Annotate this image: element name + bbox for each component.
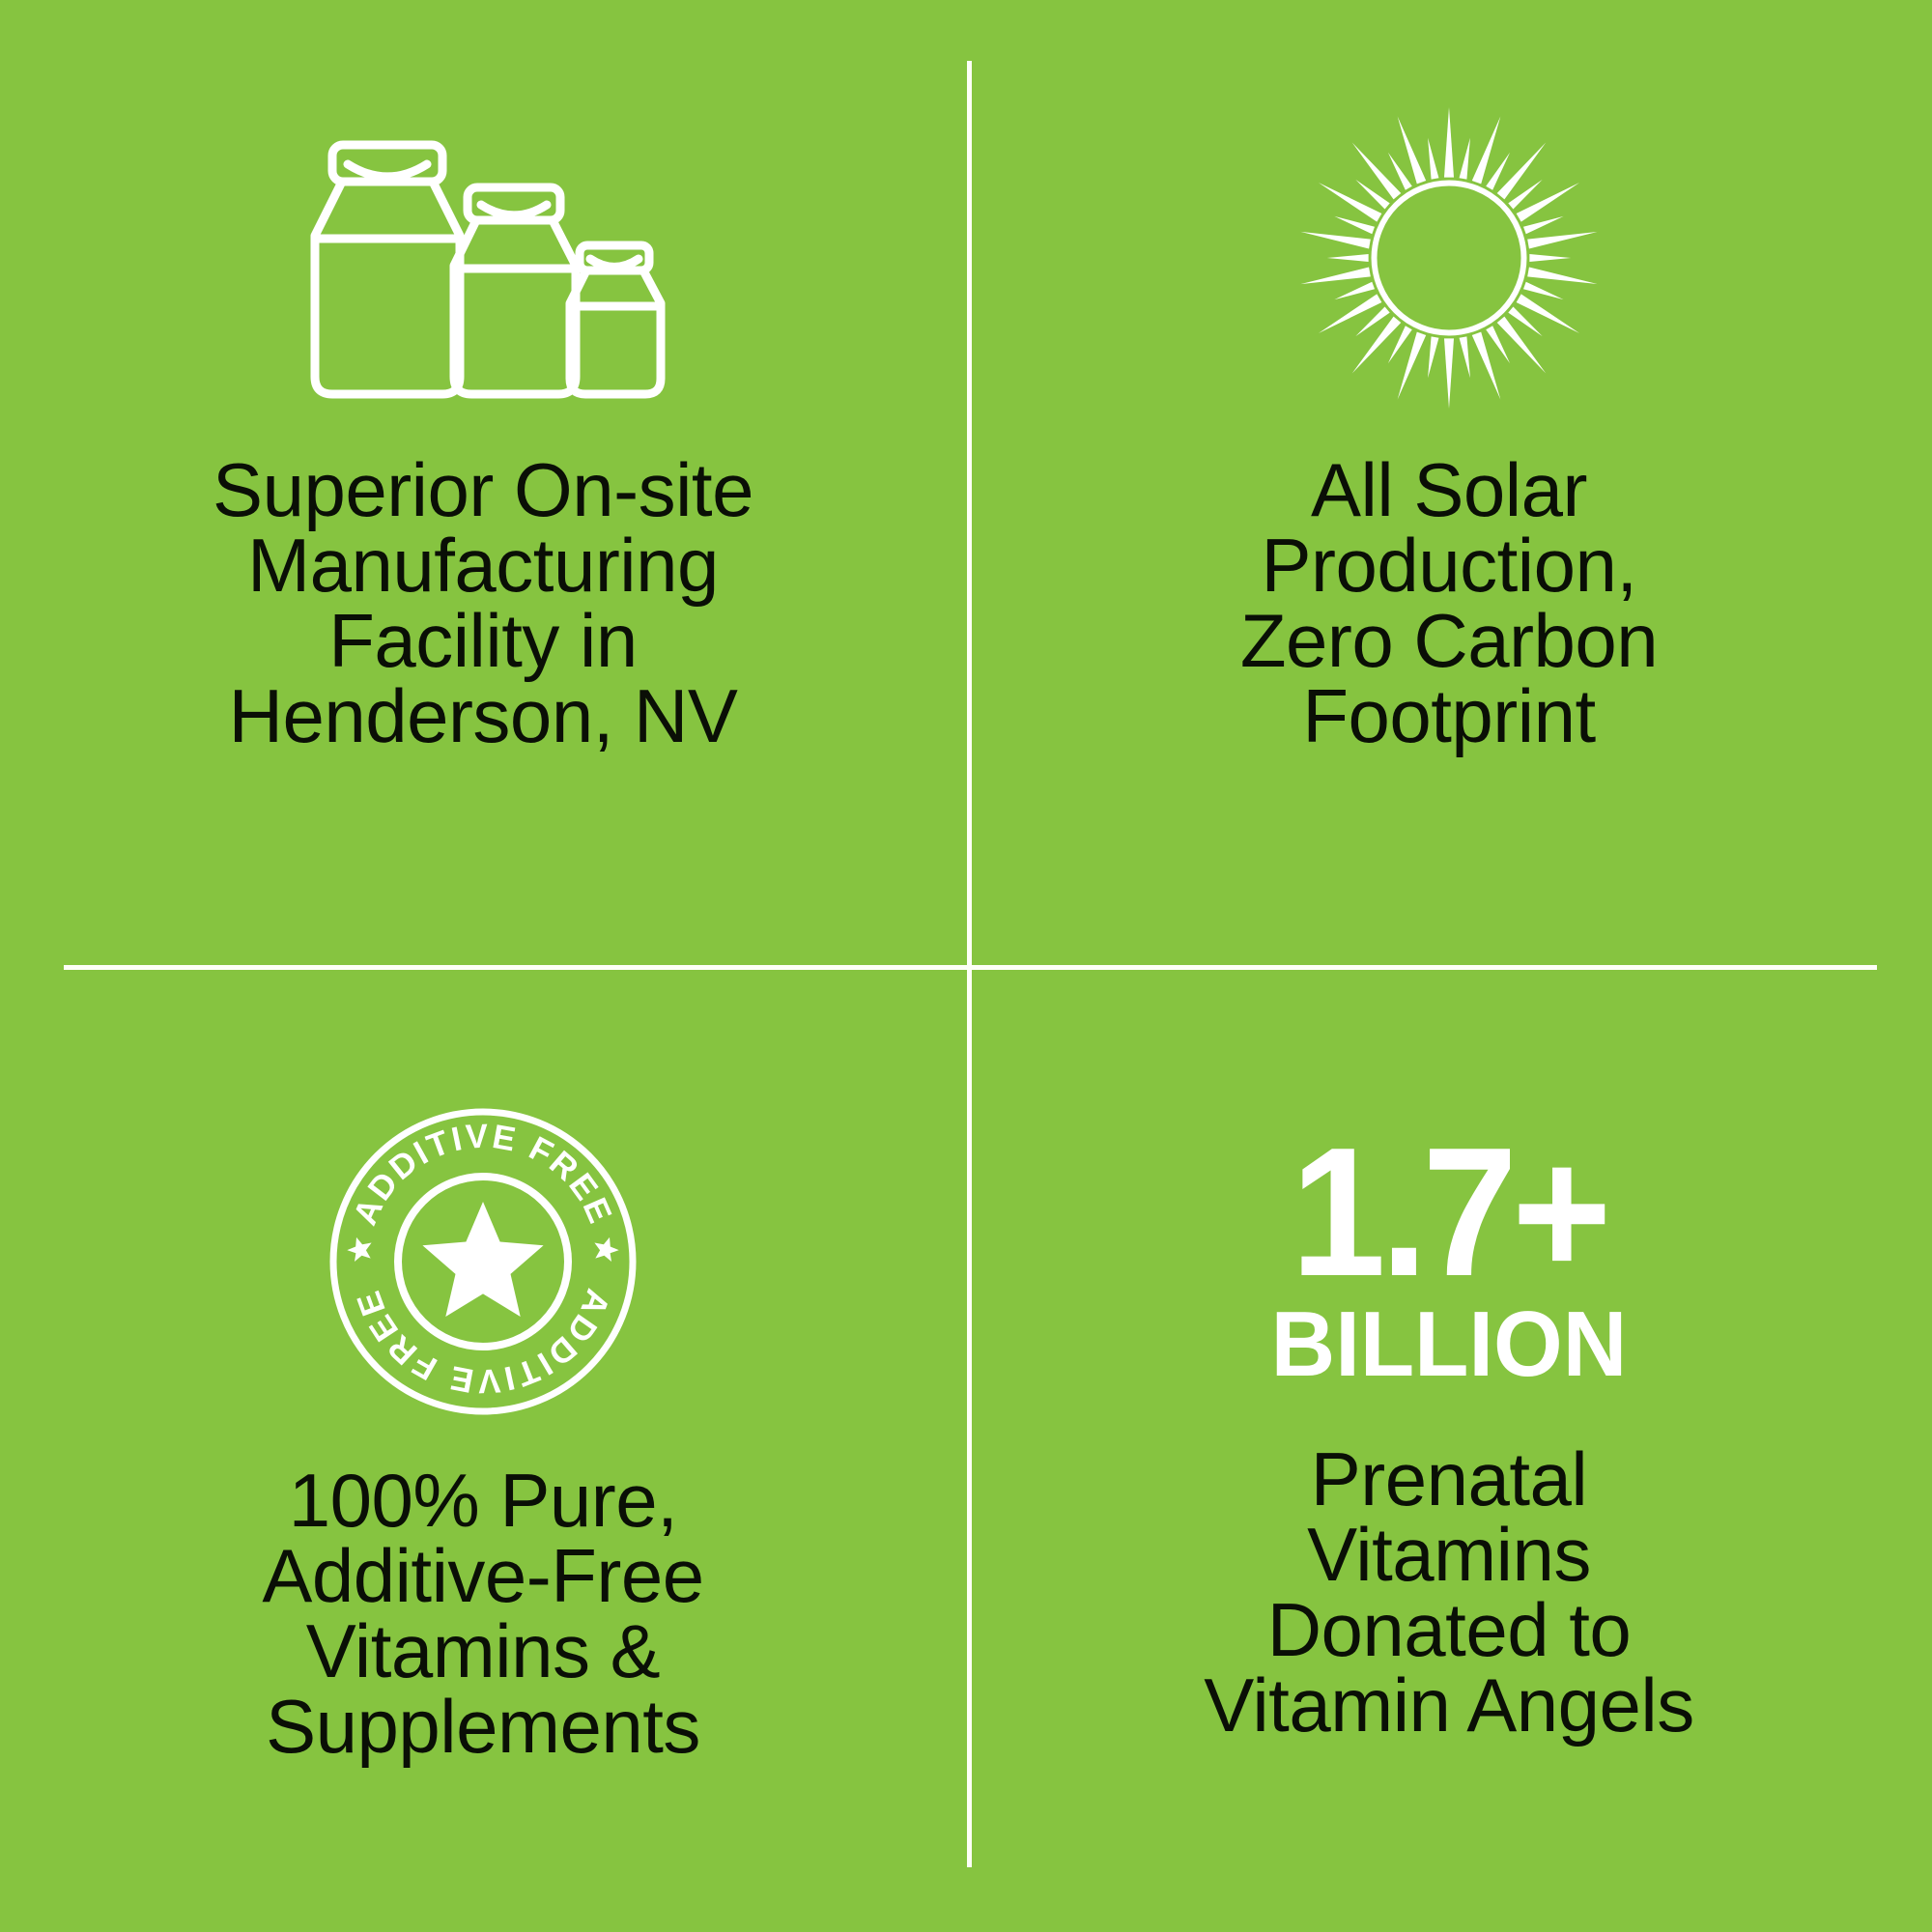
sun-ray [1428, 138, 1438, 180]
infographic-panel: Superior On-site Manufacturing Facility … [0, 0, 1932, 1932]
sun-ray [1517, 294, 1579, 333]
quadrant-additive-free: ADDITIVE FREE ADDITIVE FREE 100% Pure, A… [0, 966, 966, 1932]
sun-ray [1523, 216, 1564, 234]
additive-free-seal-icon: ADDITIVE FREE ADDITIVE FREE [328, 1107, 638, 1416]
sun-ray [1334, 216, 1375, 234]
caption-line: Superior On-site [116, 452, 850, 527]
caption-line: Prenatal [1053, 1441, 1845, 1517]
sun-ray [1527, 232, 1597, 249]
sun-ray [1460, 138, 1470, 180]
sun-ray [1523, 282, 1564, 299]
sun-ray [1529, 254, 1571, 262]
caption-additive-free: 100% Pure, Additive-Free Vitamins & Supp… [87, 1463, 879, 1764]
caption-line: Donated to [1053, 1592, 1845, 1667]
caption-line: Henderson, NV [116, 678, 850, 753]
stat-unit: BILLION [1271, 1298, 1628, 1391]
caption-manufacturing: Superior On-site Manufacturing Facility … [116, 452, 850, 753]
big-number-stat: 1.7+ BILLION [1264, 1140, 1634, 1383]
caption-solar: All Solar Production, Zero Carbon Footpr… [1082, 452, 1816, 753]
stat-number: 1.7+ [1292, 1132, 1607, 1293]
stat-block: 1.7+ BILLION [1264, 1132, 1634, 1390]
sun-ray [1300, 268, 1370, 285]
badge-center-star [422, 1202, 543, 1317]
caption-line: Vitamin Angels [1053, 1667, 1845, 1743]
caption-line: Manufacturing [116, 527, 850, 603]
caption-line: All Solar [1082, 452, 1816, 527]
three-bottles-icon [294, 128, 672, 408]
sun-ray [1497, 142, 1547, 199]
sun-ray [1444, 338, 1454, 409]
caption-line: Facility in [116, 603, 850, 678]
caption-line: Production, [1082, 527, 1816, 603]
sun-ray [1319, 294, 1381, 333]
caption-line: Vitamins [1053, 1517, 1845, 1592]
quadrant-manufacturing: Superior On-site Manufacturing Facility … [0, 0, 966, 966]
sun-ray [1327, 254, 1369, 262]
caption-donations: Prenatal Vitamins Donated to Vitamin Ang… [1053, 1441, 1845, 1743]
sun-ray [1428, 336, 1438, 378]
caption-line: Vitamins & [87, 1613, 879, 1689]
badge-side-star-right [594, 1237, 618, 1262]
sun-ray [1460, 336, 1470, 378]
caption-line: Zero Carbon [1082, 603, 1816, 678]
sun-ray [1319, 183, 1381, 222]
quadrant-solar: All Solar Production, Zero Carbon Footpr… [966, 0, 1932, 966]
sun-icon [1295, 104, 1603, 412]
quadrant-donations: 1.7+ BILLION Prenatal Vitamins Donated t… [966, 966, 1932, 1932]
badge-bottom-text: ADDITIVE FREE [349, 1284, 617, 1400]
caption-line: Additive-Free [87, 1538, 879, 1613]
sun-ray [1334, 282, 1375, 299]
sun-ray [1527, 268, 1597, 285]
caption-line: Footprint [1082, 678, 1816, 753]
sun-ray [1352, 142, 1402, 199]
badge-side-star-left [347, 1237, 371, 1262]
sun-ray [1517, 183, 1579, 222]
caption-line: 100% Pure, [87, 1463, 879, 1538]
sun-ray [1352, 317, 1402, 374]
caption-line: Supplements [87, 1689, 879, 1764]
sun-ray [1444, 107, 1454, 178]
sun-ray [1497, 317, 1547, 374]
sun-ray [1300, 232, 1370, 249]
